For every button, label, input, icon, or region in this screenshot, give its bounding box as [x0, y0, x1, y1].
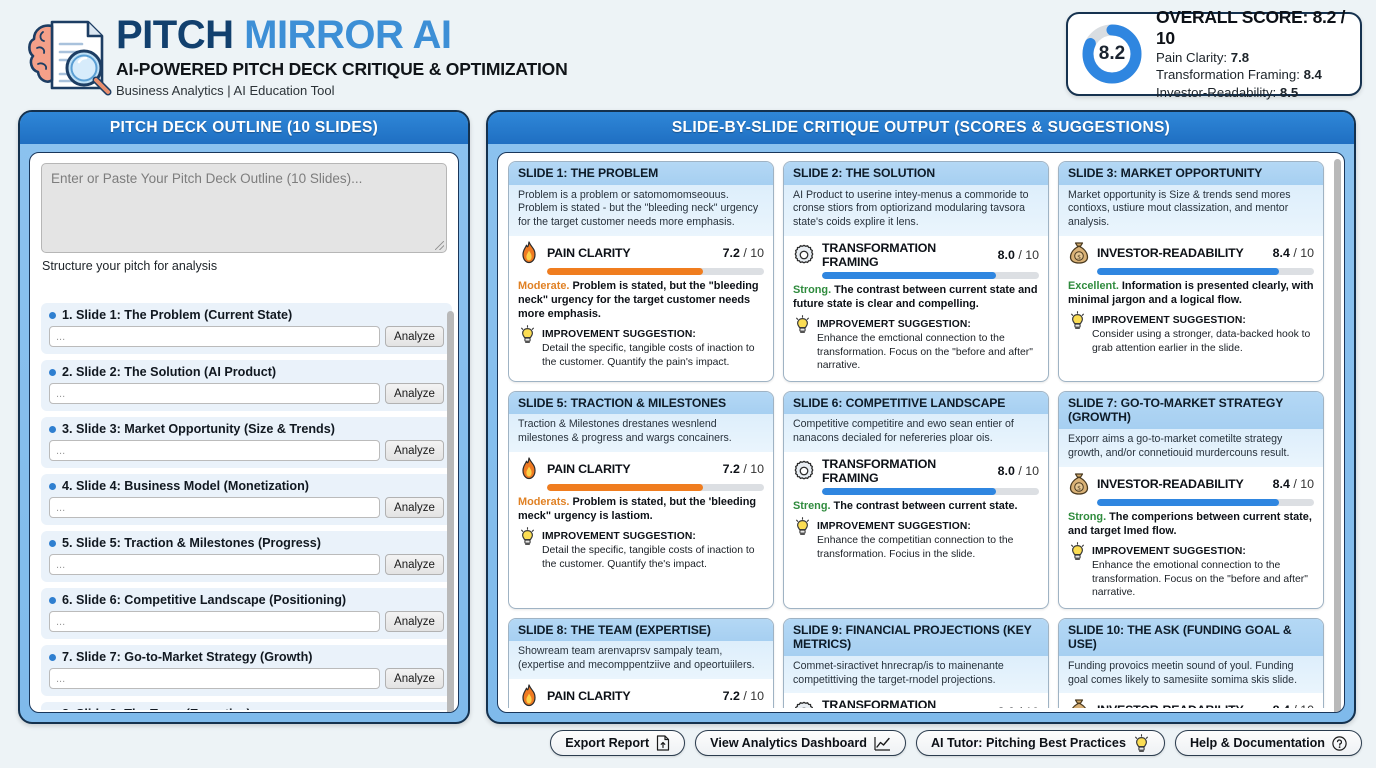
bullet-dot-icon: [49, 540, 56, 547]
score-metric-value: 8.4: [1304, 67, 1322, 82]
slide-item-label: 3. Slide 3: Market Opportunity (Size & T…: [62, 422, 335, 436]
metric-row: PAIN CLARITY7.2 / 10: [518, 457, 764, 481]
metric-name: TRANSFORMATION FRAMING: [822, 698, 991, 708]
slide-text-input[interactable]: ...: [49, 326, 380, 347]
suggestion-row: IMPROVEMENT SUGGESTION:Detail the specif…: [518, 526, 764, 571]
bullet-dot-icon: [49, 483, 56, 490]
slide-item-row: ...Analyze: [49, 668, 444, 689]
brand-block: PITCH MIRROR AI AI-POWERED PITCH DECK CR…: [116, 14, 568, 98]
critique-card-body: TRANSFORMATION FRAMING8.0 / 10Strong. Th…: [784, 236, 1048, 381]
footer-button-label: Help & Documentation: [1190, 736, 1325, 750]
suggestion-text: Enhance the emotional connection to the …: [1092, 559, 1314, 600]
footer-button[interactable]: Help & Documentation: [1175, 730, 1362, 756]
metric-score-denominator: / 10: [1293, 477, 1314, 491]
metric-score-value: 8.4: [1273, 477, 1290, 491]
line-chart-icon: [874, 736, 891, 751]
lightbulb-icon: [518, 324, 536, 369]
verdict-text: Streng. The contrast between current sta…: [793, 499, 1039, 513]
metric-progress-bar: [1097, 268, 1314, 275]
critique-card-grid: SLIDE 1: THE PROBLEMProblem is a problem…: [508, 161, 1330, 708]
money-bag-icon: $: [1068, 241, 1090, 265]
footer-button[interactable]: Export Report: [550, 730, 685, 756]
slide-item-row: ...Analyze: [49, 497, 444, 518]
verdict-lead: Moderate.: [518, 280, 569, 292]
money-bag-icon: $: [1068, 472, 1090, 496]
critique-card-body: $INVESTOR-READABILITY8.4 / 10Strong. The…: [1059, 467, 1323, 608]
suggestion-row: IMPROVEMENT SUGGESTION:Consider using a …: [1068, 310, 1314, 355]
slide-item-title: 6. Slide 6: Competitive Landscape (Posit…: [49, 593, 444, 607]
metric-row: $INVESTOR-READABILITY8.4 / 10: [1068, 698, 1314, 708]
metric-name: TRANSFORMATION FRAMING: [822, 241, 991, 269]
critique-card-body: PAIN CLARITY7.2 / 10Moderats. Problem is…: [509, 452, 773, 579]
bullet-dot-icon: [49, 426, 56, 433]
critique-card-description: Traction & Milestones drestanes wesnlend…: [509, 414, 773, 452]
app-footer: Export ReportView Analytics DashboardAI …: [0, 724, 1376, 768]
metric-score: 7.2 / 10: [723, 689, 764, 703]
critique-card-body: PAIN CLARITY7.2 / 10Moderate. Problem is…: [509, 679, 773, 708]
metric-row: TRANSFORMATION FRAMING8.0 / 10: [793, 698, 1039, 708]
score-metric-row: Pain Clarity: 7.8: [1156, 49, 1360, 66]
metric-score-denominator: / 10: [1018, 248, 1039, 262]
critique-card-body: $INVESTOR-READABILITY8.4 / 10Excellent. …: [1059, 693, 1323, 708]
critique-card-description: Market opportunity is Size & trends send…: [1059, 185, 1323, 236]
slide-item-label: 8. Slide 8: The Team (Expertise): [62, 707, 251, 710]
critique-card-body: TRANSFORMATION FRAMING8.0 / 10Streng. Th…: [784, 693, 1048, 708]
metric-score-value: 8.0: [998, 705, 1015, 708]
bullet-dot-icon: [49, 597, 56, 604]
verdict-text: Excellent. Information is presented clea…: [1068, 279, 1314, 307]
verdict-lead: Strong.: [793, 284, 831, 296]
slide-outline-item[interactable]: 6. Slide 6: Competitive Landscape (Posit…: [41, 588, 452, 639]
metric-score-value: 7.2: [723, 689, 740, 703]
critique-card-description: Showream team arenvaprsv sampaly team, (…: [509, 641, 773, 679]
metric-score-value: 7.2: [723, 246, 740, 260]
verdict-lead: Strong.: [1068, 511, 1106, 523]
critique-card-description: AI Product to userine intey-menus a comm…: [784, 185, 1048, 236]
slide-outline-item[interactable]: 7. Slide 7: Go-to-Market Strategy (Growt…: [41, 645, 452, 696]
metric-score-value: 8.4: [1273, 703, 1290, 708]
analyze-button[interactable]: Analyze: [385, 554, 444, 575]
metric-row: $INVESTOR-READABILITY8.4 / 10: [1068, 241, 1314, 265]
slide-item-title: 1. Slide 1: The Problem (Current State): [49, 308, 444, 322]
metric-score-value: 8.4: [1273, 246, 1290, 260]
slide-item-title: 3. Slide 3: Market Opportunity (Size & T…: [49, 422, 444, 436]
resize-grip-icon[interactable]: [435, 241, 444, 250]
score-details: OVERALL SCORE: 8.2 / 10 Pain Clarity: 7.…: [1156, 7, 1360, 101]
right-panel-body: SLIDE 1: THE PROBLEMProblem is a problem…: [497, 152, 1345, 713]
critique-card-description: Competitive competitire and ewo sean ent…: [784, 414, 1048, 452]
slide-item-label: 7. Slide 7: Go-to-Market Strategy (Growt…: [62, 650, 313, 664]
metric-progress-bar: [1097, 499, 1314, 506]
verdict-lead: Moderats.: [518, 496, 569, 508]
suggestion-text: Enhance the emctional connection to the …: [817, 332, 1039, 373]
metric-row: PAIN CLARITY7.2 / 10: [518, 684, 764, 708]
pitch-deck-outline-panel: PITCH DECK OUTLINE (10 SLIDES) Enter or …: [18, 110, 470, 724]
critique-card[interactable]: SLIDE 1: THE PROBLEMProblem is a problem…: [508, 161, 774, 382]
slide-outline-item[interactable]: 1. Slide 1: The Problem (Current State).…: [41, 303, 452, 354]
metric-name: TRANSFORMATION FRAMING: [822, 457, 991, 485]
verdict-lead: Streng.: [793, 500, 831, 512]
slide-item-row: ...Analyze: [49, 440, 444, 461]
verdict-text: Strong. The contrast between current sta…: [793, 283, 1039, 311]
suggestion-text: Detail the specific, tangible costs of i…: [542, 342, 764, 369]
critique-card[interactable]: SLIDE 3: MARKET OPPORTUNITYMarket opport…: [1058, 161, 1324, 382]
critique-card[interactable]: SLIDE 2: THE SOLUTIONAI Product to useri…: [783, 161, 1049, 382]
lightbulb-icon: [1068, 310, 1086, 355]
metric-progress-fill: [822, 488, 996, 495]
slide-item-title: 4. Slide 4: Business Model (Monetization…: [49, 479, 444, 493]
metric-name: INVESTOR-READABILITY: [1097, 703, 1266, 708]
critique-card[interactable]: SLIDE 7: GO-TO-MARKET STRATEGY (GROWTH)E…: [1058, 391, 1324, 609]
metric-name: INVESTOR-READABILITY: [1097, 246, 1266, 260]
metric-score: 8.4 / 10: [1273, 703, 1314, 708]
score-metric-row: Investor-Readability: 8.5: [1156, 84, 1360, 101]
app-title-part1: PITCH: [116, 13, 244, 57]
app-subtitle: AI-POWERED PITCH DECK CRITIQUE & OPTIMIZ…: [116, 59, 568, 80]
footer-button-label: View Analytics Dashboard: [710, 736, 867, 750]
suggestion-label: IMPROVEMENT SUGGESTION:: [542, 531, 696, 542]
outline-textarea-placeholder: Enter or Paste Your Pitch Deck Outline (…: [51, 171, 362, 186]
critique-card-title: SLIDE 9: FINANCIAL PROJECTIONS (KEY METR…: [784, 619, 1048, 656]
bullet-dot-icon: [49, 654, 56, 661]
slide-item-row: ...Analyze: [49, 554, 444, 575]
metric-progress-fill: [1097, 499, 1279, 506]
footer-button-group: Export ReportView Analytics DashboardAI …: [550, 730, 1362, 756]
flame-icon: [518, 241, 540, 265]
left-panel-scrollbar[interactable]: [447, 311, 454, 713]
money-bag-icon: $: [1068, 698, 1090, 708]
metric-score: 7.2 / 10: [723, 246, 764, 260]
bullet-dot-icon: [49, 312, 56, 319]
suggestion-label: IMPROVEMENT SUGGESTION:: [817, 521, 971, 532]
verdict-lead: Excellent.: [1068, 280, 1119, 292]
footer-button-label: Export Report: [565, 736, 649, 750]
slide-outline-item[interactable]: 3. Slide 3: Market Opportunity (Size & T…: [41, 417, 452, 468]
critique-card-title: SLIDE 10: THE ASK (FUNDING GOAL & USE): [1059, 619, 1323, 656]
suggestion-text: Consider using a stronger, data-backed h…: [1092, 328, 1314, 355]
footer-button-label: AI Tutor: Pitching Best Practices: [931, 736, 1126, 750]
critique-card[interactable]: SLIDE 5: TRACTION & MILESTONESTraction &…: [508, 391, 774, 609]
gear-icon: [793, 459, 815, 483]
metric-score-value: 8.0: [998, 248, 1015, 262]
critique-card-title: SLIDE 1: THE PROBLEM: [509, 162, 773, 185]
analyze-button[interactable]: Analyze: [385, 668, 444, 689]
metric-progress-fill: [547, 268, 703, 275]
metric-progress-bar: [822, 488, 1039, 495]
slide-text-input[interactable]: ...: [49, 668, 380, 689]
suggestion-label: IMPROVEMENT SUGGESTION:: [542, 329, 696, 340]
metric-score-denominator: / 10: [743, 689, 764, 703]
metric-score-value: 8.0: [998, 464, 1015, 478]
flame-icon: [518, 457, 540, 481]
critique-card-title: SLIDE 3: MARKET OPPORTUNITY: [1059, 162, 1323, 185]
suggestion-text: Enhance the competitian connection to th…: [817, 534, 1039, 561]
score-metric-label: Pain Clarity:: [1156, 50, 1231, 65]
footer-button[interactable]: View Analytics Dashboard: [695, 730, 906, 756]
metric-score-value: 7.2: [723, 462, 740, 476]
metric-row: TRANSFORMATION FRAMING8.0 / 10: [793, 241, 1039, 269]
slide-item-row: ...Analyze: [49, 326, 444, 347]
left-panel-body: Enter or Paste Your Pitch Deck Outline (…: [29, 152, 459, 713]
lightbulb-icon: [793, 314, 811, 373]
metric-score-denominator: / 10: [1018, 705, 1039, 708]
verdict-text: Strong. The comperions between current s…: [1068, 510, 1314, 538]
metric-progress-bar: [547, 268, 764, 275]
metric-score-denominator: / 10: [1293, 246, 1314, 260]
analyze-button[interactable]: Analyze: [385, 440, 444, 461]
metric-score-denominator: / 10: [743, 462, 764, 476]
bullet-dot-icon: [49, 369, 56, 376]
score-metric-list: Pain Clarity: 7.8Transformation Framing:…: [1156, 49, 1360, 101]
slide-item-label: 1. Slide 1: The Problem (Current State): [62, 308, 292, 322]
slide-outline-list[interactable]: 1. Slide 1: The Problem (Current State).…: [41, 303, 452, 710]
critique-card-body: TRANSFORMATION FRAMING8.0 / 10Streng. Th…: [784, 452, 1048, 569]
slide-text-input[interactable]: ...: [49, 497, 380, 518]
suggestion-row: IMPROVEMENT SUGGESTION:Enhance the emoti…: [1068, 541, 1314, 600]
metric-progress-fill: [547, 484, 703, 491]
analyze-button[interactable]: Analyze: [385, 326, 444, 347]
suggestion-label: IMPROVEMENT SUGGESTION:: [1092, 546, 1246, 557]
metric-score: 8.0 / 10: [998, 705, 1039, 708]
footer-button[interactable]: AI Tutor: Pitching Best Practices: [916, 730, 1165, 756]
critique-card[interactable]: SLIDE 9: FINANCIAL PROJECTIONS (KEY METR…: [783, 618, 1049, 708]
suggestion-label: IMPROVEMENT SUGGESTION:: [1092, 315, 1246, 326]
verdict-text: Moderats. Problem is stated, but the 'bl…: [518, 495, 764, 523]
slide-item-label: 5. Slide 5: Traction & Milestones (Progr…: [62, 536, 321, 550]
flame-icon: [518, 684, 540, 708]
right-panel-title: SLIDE-BY-SLIDE CRITIQUE OUTPUT (SCORES &…: [488, 112, 1354, 144]
verdict-text: Moderate. Problem is stated, but the "bl…: [518, 279, 764, 322]
critique-card-title: SLIDE 8: THE TEAM (EXPERTISE): [509, 619, 773, 642]
critique-card[interactable]: SLIDE 6: COMPETITIVE LANDSCAPECompetitiv…: [783, 391, 1049, 609]
suggestion-label: IMPROVEMERT SUGGESTION:: [817, 319, 971, 330]
metric-score: 8.0 / 10: [998, 248, 1039, 262]
metric-score-denominator: / 10: [743, 246, 764, 260]
slide-outline-item[interactable]: 2. Slide 2: The Solution (AI Product)...…: [41, 360, 452, 411]
metric-score: 8.4 / 10: [1273, 246, 1314, 260]
slide-item-title: 7. Slide 7: Go-to-Market Strategy (Growt…: [49, 650, 444, 664]
slide-text-input[interactable]: ...: [49, 611, 380, 632]
critique-output-panel: SLIDE-BY-SLIDE CRITIQUE OUTPUT (SCORES &…: [486, 110, 1356, 724]
metric-row: PAIN CLARITY7.2 / 10: [518, 241, 764, 265]
suggestion-text: Detail the specific, tangible costs of i…: [542, 544, 764, 571]
critique-card-title: SLIDE 5: TRACTION & MILESTONES: [509, 392, 773, 415]
metric-score: 7.2 / 10: [723, 462, 764, 476]
analyze-button[interactable]: Analyze: [385, 383, 444, 404]
score-metric-value: 8.5: [1280, 85, 1298, 100]
outline-hint: Structure your pitch for analysis: [42, 259, 458, 273]
suggestion-row: IMPROVEMENT SUGGESTION:Enhance the compe…: [793, 516, 1039, 561]
metric-row: $INVESTOR-READABILITY8.4 / 10: [1068, 472, 1314, 496]
app-header: PITCH MIRROR AI AI-POWERED PITCH DECK CR…: [0, 0, 1376, 106]
analyze-button[interactable]: Analyze: [385, 497, 444, 518]
score-donut-value: 8.2: [1080, 22, 1144, 86]
metric-name: PAIN CLARITY: [547, 246, 716, 260]
slide-item-row: ...Analyze: [49, 383, 444, 404]
metric-score-denominator: / 10: [1018, 464, 1039, 478]
slide-item-title: 8. Slide 8: The Team (Expertise): [49, 707, 444, 710]
slide-item-title: 5. Slide 5: Traction & Milestones (Progr…: [49, 536, 444, 550]
app-title: PITCH MIRROR AI: [116, 14, 568, 56]
metric-progress-fill: [822, 272, 996, 279]
metric-row: TRANSFORMATION FRAMING8.0 / 10: [793, 457, 1039, 485]
metric-score-denominator: / 10: [1293, 703, 1314, 708]
score-metric-value: 7.8: [1231, 50, 1249, 65]
score-metric-label: Transformation Framing:: [1156, 67, 1304, 82]
critique-card-title: SLIDE 6: COMPETITIVE LANDSCAPE: [784, 392, 1048, 415]
metric-name: PAIN CLARITY: [547, 689, 716, 703]
critique-card-description: Exporr aims a go-to-market cometilte str…: [1059, 429, 1323, 467]
metric-name: PAIN CLARITY: [547, 462, 716, 476]
metric-progress-bar: [822, 272, 1039, 279]
question-circle-icon: [1332, 736, 1347, 751]
brain-document-magnifier-icon: [22, 12, 114, 98]
lightbulb-icon: [793, 516, 811, 561]
metric-name: INVESTOR-READABILITY: [1097, 477, 1266, 491]
gear-icon: [793, 700, 815, 708]
critique-card-title: SLIDE 7: GO-TO-MARKET STRATEGY (GROWTH): [1059, 392, 1323, 429]
slide-item-row: ...Analyze: [49, 611, 444, 632]
score-donut-chart: 8.2: [1080, 22, 1144, 86]
critique-card-body: $INVESTOR-READABILITY8.4 / 10Excellent. …: [1059, 236, 1323, 363]
lightbulb-icon: [1068, 541, 1086, 600]
critique-card[interactable]: SLIDE 10: THE ASK (FUNDING GOAL & USE)Fu…: [1058, 618, 1324, 708]
suggestion-row: IMPROVEMENT SUGGESTION:Detail the specif…: [518, 324, 764, 369]
slide-item-label: 6. Slide 6: Competitive Landscape (Posit…: [62, 593, 346, 607]
slide-item-label: 4. Slide 4: Business Model (Monetization…: [62, 479, 309, 493]
outline-textarea[interactable]: Enter or Paste Your Pitch Deck Outline (…: [41, 163, 447, 253]
score-metric-label: Investor-Readability:: [1156, 85, 1280, 100]
analyze-button[interactable]: Analyze: [385, 611, 444, 632]
critique-card-description: Commet-siractivet hnrecrap/is to mainena…: [784, 656, 1048, 694]
critique-cards-area: SLIDE 1: THE PROBLEMProblem is a problem…: [508, 161, 1330, 708]
verdict-body: The contrast between current state.: [831, 500, 1018, 512]
slide-item-title: 2. Slide 2: The Solution (AI Product): [49, 365, 444, 379]
slide-outline-item[interactable]: 4. Slide 4: Business Model (Monetization…: [41, 474, 452, 525]
right-panel-scrollbar[interactable]: [1334, 159, 1341, 713]
slide-outline-item[interactable]: 5. Slide 5: Traction & Milestones (Progr…: [41, 531, 452, 582]
gear-icon: [793, 243, 815, 267]
critique-card-description: Problem is a problem or satomomomseouus.…: [509, 185, 773, 236]
suggestion-row: IMPROVEMERT SUGGESTION:Enhance the emcti…: [793, 314, 1039, 373]
slide-outline-item[interactable]: 8. Slide 8: The Team (Expertise)...Analy…: [41, 702, 452, 710]
critique-card-description: Funding provoics meetin sound of youl. F…: [1059, 656, 1323, 694]
critique-card[interactable]: SLIDE 8: THE TEAM (EXPERTISE)Showream te…: [508, 618, 774, 708]
overall-score-card: 8.2 OVERALL SCORE: 8.2 / 10 Pain Clarity…: [1066, 12, 1362, 96]
document-export-icon: [656, 735, 670, 751]
app-root: PITCH MIRROR AI AI-POWERED PITCH DECK CR…: [0, 0, 1376, 768]
left-panel-title: PITCH DECK OUTLINE (10 SLIDES): [20, 112, 468, 144]
metric-score: 8.0 / 10: [998, 464, 1039, 478]
slide-item-label: 2. Slide 2: The Solution (AI Product): [62, 365, 276, 379]
critique-card-body: PAIN CLARITY7.2 / 10Moderate. Problem is…: [509, 236, 773, 378]
overall-score-label: OVERALL SCORE: 8.2 / 10: [1156, 7, 1360, 49]
slide-text-input[interactable]: ...: [49, 554, 380, 575]
slide-text-input[interactable]: ...: [49, 440, 380, 461]
metric-progress-fill: [1097, 268, 1279, 275]
score-metric-row: Transformation Framing: 8.4: [1156, 66, 1360, 83]
lightbulb-icon: [1133, 734, 1150, 753]
metric-score: 8.4 / 10: [1273, 477, 1314, 491]
app-title-part2: MIRROR AI: [244, 13, 451, 57]
lightbulb-icon: [518, 526, 536, 571]
metric-progress-bar: [547, 484, 764, 491]
critique-card-title: SLIDE 2: THE SOLUTION: [784, 162, 1048, 185]
app-tagline: Business Analytics | AI Education Tool: [116, 83, 568, 98]
slide-text-input[interactable]: ...: [49, 383, 380, 404]
